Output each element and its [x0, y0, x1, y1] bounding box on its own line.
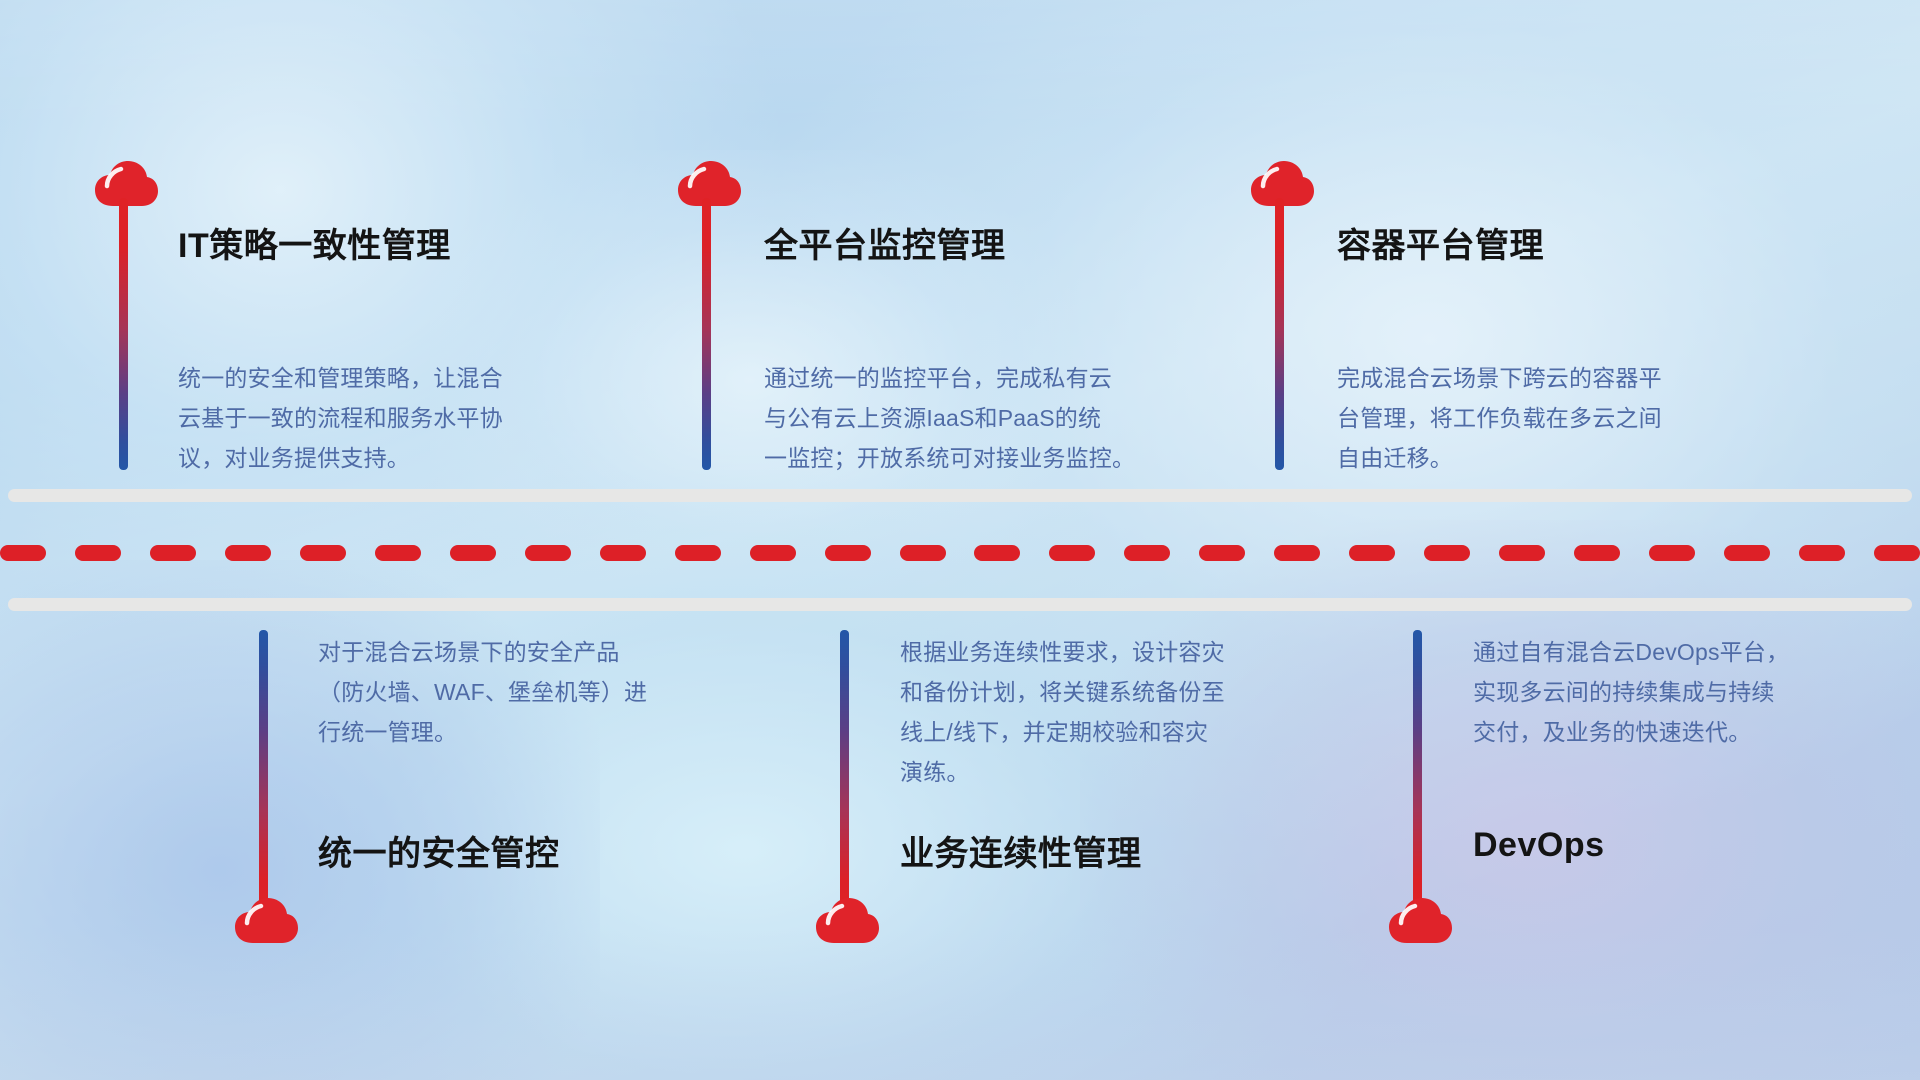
- divider-dash: [225, 545, 271, 561]
- top-item-2-body: 通过统一的监控平台，完成私有云 与公有云上资源IaaS和PaaS的统 一监控；开…: [764, 358, 1214, 478]
- connector-bar: [840, 630, 849, 920]
- bottom-item-2-body: 根据业务连续性要求，设计容灾 和备份计划，将关键系统备份至 线上/线下，并定期校…: [900, 632, 1340, 792]
- top-item-1-body: 统一的安全和管理策略，让混合 云基于一致的流程和服务水平协 议，对业务提供支持。: [178, 358, 608, 478]
- bottom-item-1-body: 对于混合云场景下的安全产品 （防火墙、WAF、堡垒机等）进 行统一管理。: [318, 632, 748, 752]
- divider-dash: [0, 545, 46, 561]
- connector-bar: [1275, 198, 1284, 470]
- divider-dash: [1124, 545, 1170, 561]
- divider-dash: [675, 545, 721, 561]
- divider-rule-bottom: [8, 598, 1912, 611]
- top-item-3-body: 完成混合云场景下跨云的容器平 台管理，将工作负载在多云之间 自由迁移。: [1337, 358, 1787, 478]
- divider-dash: [1724, 545, 1770, 561]
- divider-dash: [1574, 545, 1620, 561]
- divider-dashed-line: [0, 545, 1920, 561]
- divider-dash: [150, 545, 196, 561]
- divider-rule-top: [8, 489, 1912, 502]
- divider-dash: [900, 545, 946, 561]
- divider-dash: [600, 545, 646, 561]
- divider-dash: [1274, 545, 1320, 561]
- divider-dash: [1349, 545, 1395, 561]
- connector-bar: [1413, 630, 1422, 920]
- connector-bar: [702, 198, 711, 470]
- cloud-icon: [233, 897, 299, 945]
- divider-dash: [1874, 545, 1920, 561]
- divider-dash: [974, 545, 1020, 561]
- connector-bar: [259, 630, 268, 920]
- divider-dash: [75, 545, 121, 561]
- bottom-item-3-body: 通过自有混合云DevOps平台， 实现多云间的持续集成与持续 交付，及业务的快速…: [1473, 632, 1903, 752]
- cloud-icon: [814, 897, 880, 945]
- bottom-item-2-heading: 业务连续性管理: [900, 826, 1142, 875]
- connector-bar: [119, 198, 128, 470]
- cloud-icon: [1387, 897, 1453, 945]
- top-item-1-heading: IT策略一致性管理: [178, 218, 451, 267]
- divider-dash: [525, 545, 571, 561]
- divider-dash: [750, 545, 796, 561]
- divider-dash: [1649, 545, 1695, 561]
- top-item-3-heading: 容器平台管理: [1337, 218, 1544, 267]
- divider-dash: [1499, 545, 1545, 561]
- divider-dash: [1799, 545, 1845, 561]
- bottom-item-1-heading: 统一的安全管控: [318, 826, 560, 875]
- divider-dash: [300, 545, 346, 561]
- divider-dash: [1199, 545, 1245, 561]
- divider-dash: [375, 545, 421, 561]
- divider-dash: [1424, 545, 1470, 561]
- divider-dash: [1049, 545, 1095, 561]
- bottom-item-3-heading: DevOps: [1473, 826, 1605, 865]
- divider-dash: [825, 545, 871, 561]
- divider-dash: [450, 545, 496, 561]
- top-item-2-heading: 全平台监控管理: [764, 218, 1006, 267]
- infographic-canvas: IT策略一致性管理 统一的安全和管理策略，让混合 云基于一致的流程和服务水平协 …: [0, 0, 1920, 1080]
